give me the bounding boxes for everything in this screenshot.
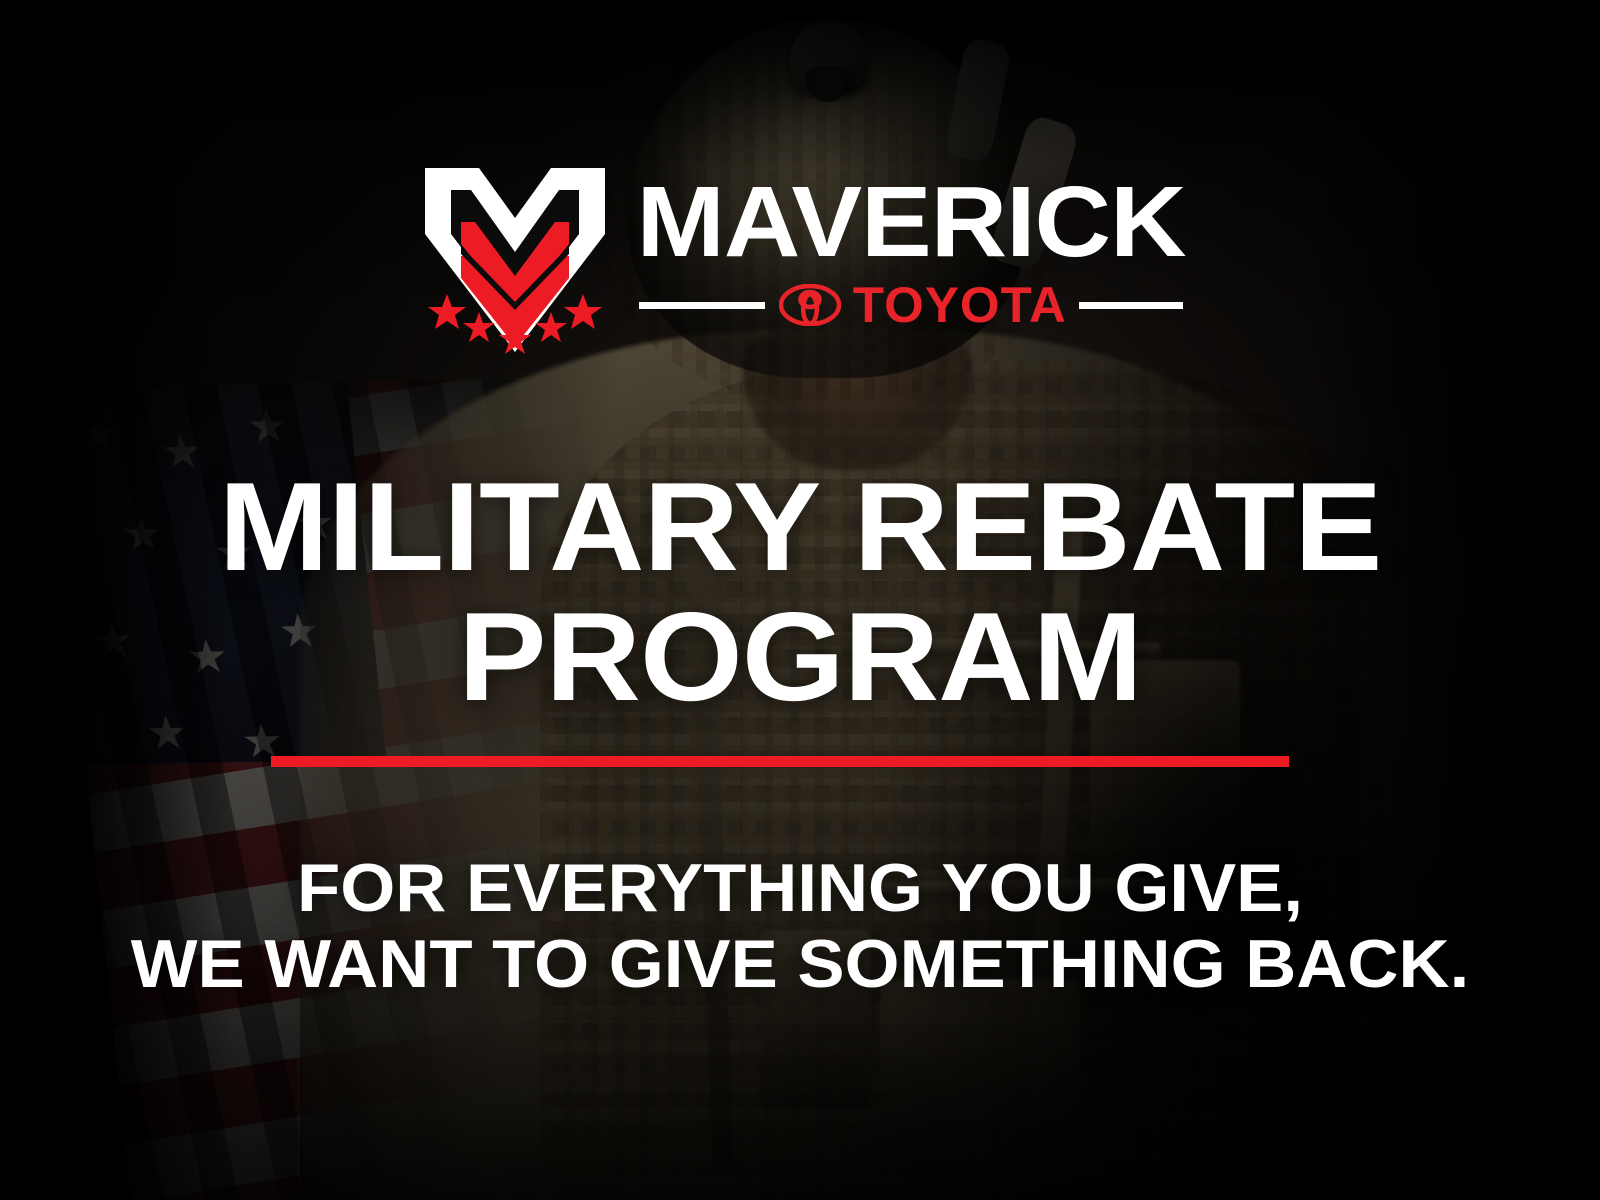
red-divider-bar — [271, 756, 1289, 767]
toyota-ellipse-emblem-icon — [779, 284, 841, 326]
tagline: FOR EVERYTHING YOU GIVE, WE WANT TO GIVE… — [0, 850, 1600, 1002]
toyota-sub-brand-name: TOYOTA — [853, 280, 1067, 330]
toyota-sub-brand-row: TOYOTA — [639, 280, 1183, 330]
brand-logo-lockup[interactable]: MAVERICK TOYOTA — [0, 160, 1600, 360]
headline-line-1: MILITARY REBATE — [219, 456, 1382, 597]
brand-name: MAVERICK — [636, 176, 1185, 268]
divider-rule-right — [1079, 302, 1183, 309]
tagline-line-1: FOR EVERYTHING YOU GIVE, — [297, 850, 1303, 926]
divider-rule-left — [639, 302, 765, 309]
brand-wordmark: MAVERICK TOYOTA — [639, 160, 1183, 330]
headline-line-2: PROGRAM — [0, 592, 1600, 722]
promo-banner: ★ ★ ★ ★ ★ ★ ★ ★ ★ ★ ★ — [0, 0, 1600, 1200]
maverick-chevron-mark-icon — [417, 160, 613, 360]
page-title: MILITARY REBATE PROGRAM — [0, 462, 1600, 722]
tagline-line-2: WE WANT TO GIVE SOMETHING BACK. — [0, 926, 1600, 1002]
